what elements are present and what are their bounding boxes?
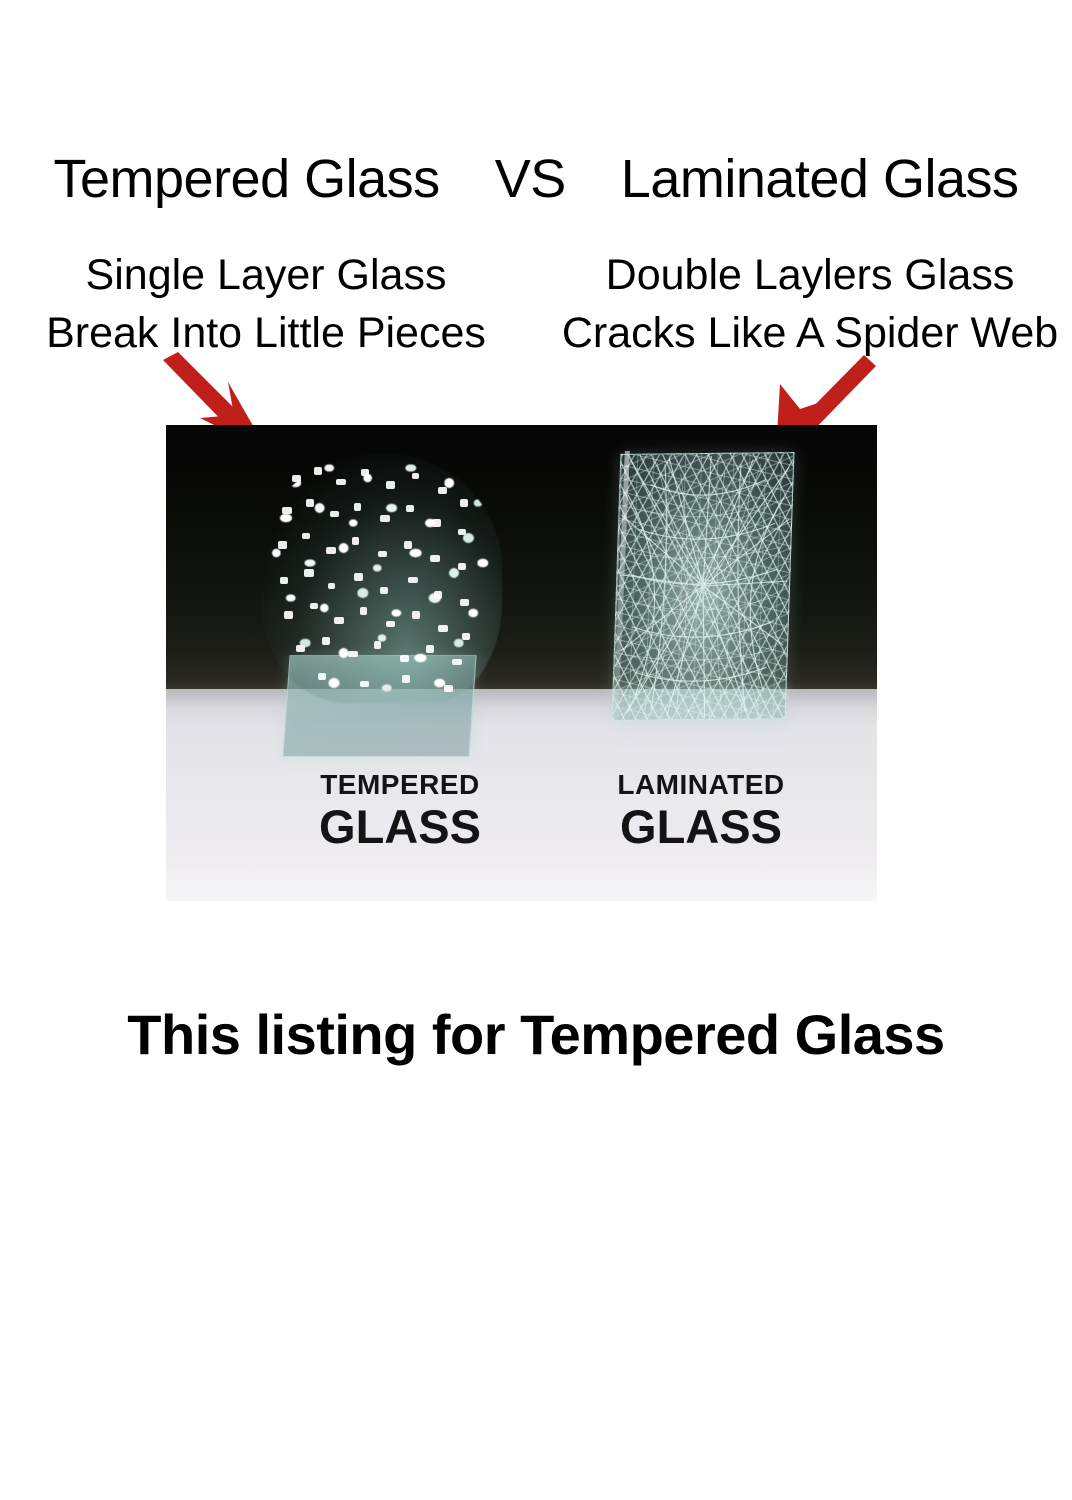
tempered-caption-block: Single Layer Glass Break Into Little Pie…	[6, 246, 526, 362]
comparison-captions: Single Layer Glass Break Into Little Pie…	[0, 246, 1072, 362]
photo-label-tempered: TEMPERED GLASS	[270, 771, 530, 850]
spider-web-crack-pattern	[613, 453, 794, 720]
photo-label-laminated: LAMINATED GLASS	[566, 771, 836, 850]
photo-label-tempered-bottom: GLASS	[270, 803, 530, 850]
glass-comparison-photo: TEMPERED GLASS LAMINATED GLASS	[166, 425, 877, 901]
title-left-term: Tempered Glass	[54, 149, 440, 209]
tempered-fragments-overlay	[262, 453, 502, 703]
title-right-term: Laminated Glass	[621, 149, 1019, 209]
page-title: Tempered Glass VS Laminated Glass	[0, 148, 1072, 210]
photo-label-laminated-bottom: GLASS	[566, 803, 836, 850]
laminated-caption-line-1: Double Laylers Glass	[548, 246, 1072, 304]
title-separator: VS	[495, 149, 566, 209]
photo-label-tempered-top: TEMPERED	[270, 771, 530, 799]
laminated-caption-block: Double Laylers Glass Cracks Like A Spide…	[548, 246, 1072, 362]
listing-note: This listing for Tempered Glass	[0, 1002, 1072, 1067]
photo-label-laminated-top: LAMINATED	[566, 771, 836, 799]
tempered-caption-line-1: Single Layer Glass	[6, 246, 526, 304]
laminated-glass-specimen	[612, 452, 795, 721]
